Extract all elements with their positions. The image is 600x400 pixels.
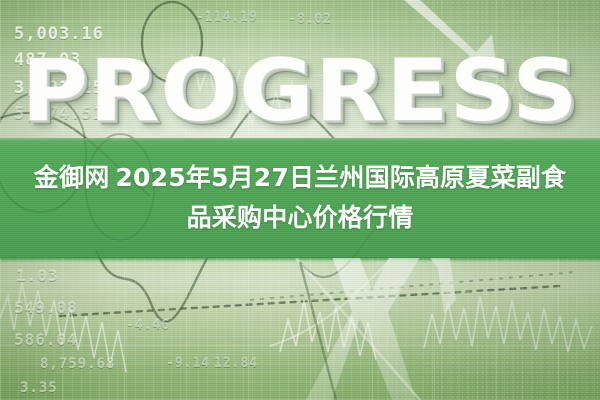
headline-text: 金御网2025年5月27日兰州国际高原夏菜副食 品采购中心价格行情 — [0, 158, 600, 238]
ticker-value: 586.04 — [14, 330, 78, 349]
ticker-value: 8,759.68 — [40, 356, 115, 372]
ticker-value: -8.02 — [288, 12, 332, 27]
ticker-value: 3.35 — [20, 380, 58, 396]
headline-line-1: 金御网2025年5月27日兰州国际高原夏菜副食 — [8, 158, 592, 198]
ticker-value: 549.08 — [14, 298, 78, 317]
headline-line-2: 品采购中心价格行情 — [8, 198, 592, 238]
ticker-value: -114.19 — [196, 10, 258, 25]
site-name: 金御网 — [34, 163, 110, 192]
ticker-value: -9.14 — [166, 356, 210, 371]
headline-line-1-rest: 2025年5月27日兰州国际高原夏菜副食 — [115, 163, 566, 192]
progress-watermark: PROGRESS — [21, 44, 578, 138]
ticker-value: -4.46 — [126, 318, 170, 333]
ticker-value: 1.03 — [16, 266, 59, 285]
news-banner: 5,003.16487.033,691.255,874.51-114.19-8.… — [0, 0, 600, 400]
ticker-value: 12.84 — [214, 356, 258, 371]
